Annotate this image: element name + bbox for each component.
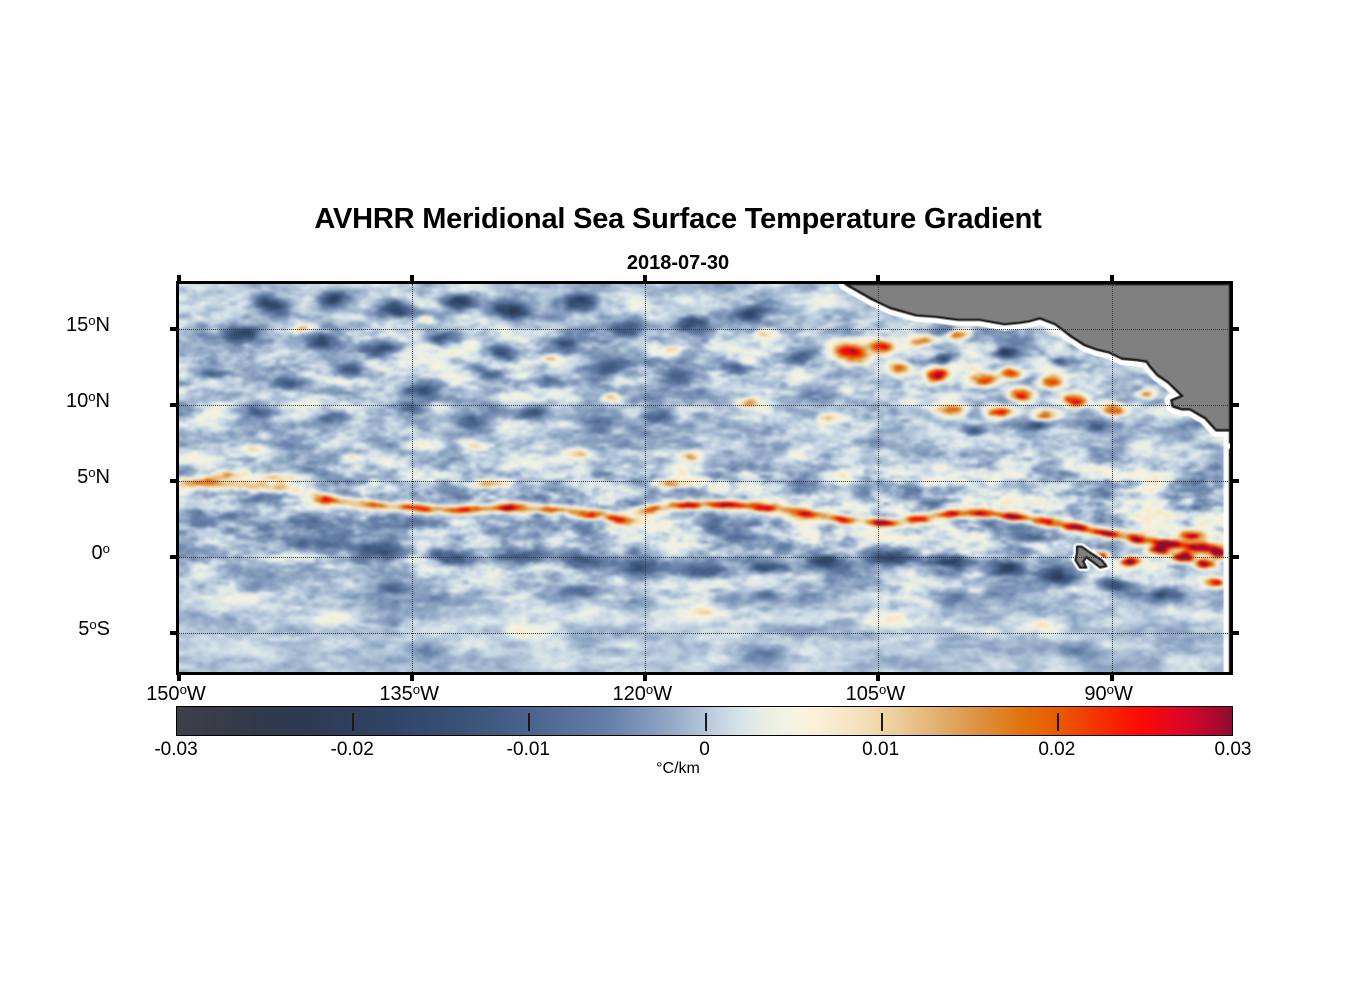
x-tick-label: 90oW: [1039, 684, 1179, 704]
sst-gradient-heatmap: [179, 284, 1230, 672]
colorbar-tick: [352, 713, 354, 731]
colorbar-tick-label: -0.01: [448, 740, 608, 759]
y-axis-tick: [170, 555, 179, 559]
colorbar-tick: [1057, 713, 1059, 731]
sst-gradient-field-wrap: [179, 284, 1230, 672]
colorbar-tick: [881, 713, 883, 731]
page-title: AVHRR Meridional Sea Surface Temperature…: [0, 205, 1356, 234]
gridline-lon: [412, 284, 413, 672]
colorbar-tick: [528, 713, 530, 731]
colorbar-unit-label: °C/km: [0, 761, 1356, 777]
y-axis-tick: [170, 327, 179, 331]
y-axis-tick: [170, 631, 179, 635]
x-tick-label: 150oW: [106, 684, 246, 704]
x-axis-tick: [876, 672, 880, 681]
y-tick-label: 0o: [0, 543, 110, 563]
gridline-lon: [645, 284, 646, 672]
colorbar: [176, 706, 1233, 736]
y-axis-tick: [170, 479, 179, 483]
x-tick-label: 135oW: [339, 684, 479, 704]
x-axis-tick: [643, 672, 647, 681]
y-axis-tick: [1230, 631, 1239, 635]
x-axis-tick: [876, 275, 880, 284]
figure-canvas: AVHRR Meridional Sea Surface Temperature…: [0, 0, 1356, 1000]
x-axis-tick: [410, 672, 414, 681]
colorbar-tick-label: 0.01: [801, 740, 961, 759]
gridline-lon: [1112, 284, 1113, 672]
colorbar-tick: [705, 713, 707, 731]
gridline-lat: [179, 557, 1230, 558]
colorbar-tick-label: -0.02: [272, 740, 432, 759]
gridline-lon: [878, 284, 879, 672]
gridline-lat: [179, 405, 1230, 406]
colorbar-tick-label: 0.02: [977, 740, 1137, 759]
x-axis-tick: [1110, 275, 1114, 284]
figure-subtitle-date: 2018-07-30: [0, 253, 1356, 273]
x-axis-tick: [1110, 672, 1114, 681]
y-axis-tick: [1230, 555, 1239, 559]
y-tick-label: 10oN: [0, 391, 110, 411]
colorbar-tick-label: 0: [625, 740, 785, 759]
y-tick-label: 5oN: [0, 467, 110, 487]
x-axis-tick: [410, 275, 414, 284]
map-axes: [176, 281, 1233, 675]
y-axis-tick: [1230, 403, 1239, 407]
x-axis-tick: [177, 275, 181, 284]
y-axis-tick: [1230, 479, 1239, 483]
gridline-lat: [179, 481, 1230, 482]
x-axis-tick: [177, 672, 181, 681]
colorbar-tick-label: 0.03: [1153, 740, 1313, 759]
colorbar-tick-label: -0.03: [96, 740, 256, 759]
x-axis-tick: [643, 275, 647, 284]
y-tick-label: 5oS: [0, 619, 110, 639]
gridline-lat: [179, 329, 1230, 330]
gridline-lat: [179, 633, 1230, 634]
y-tick-label: 15oN: [0, 315, 110, 335]
x-tick-label: 105oW: [805, 684, 945, 704]
y-axis-tick: [170, 403, 179, 407]
x-tick-label: 120oW: [572, 684, 712, 704]
y-axis-tick: [1230, 327, 1239, 331]
